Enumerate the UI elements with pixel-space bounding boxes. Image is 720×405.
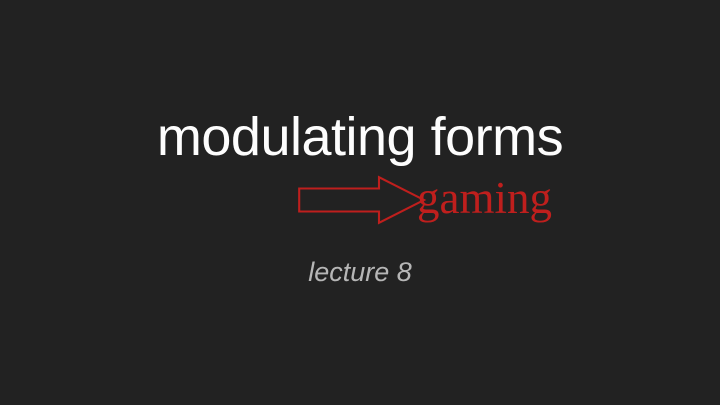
page-subtitle: lecture 8	[0, 255, 720, 289]
annotation-target-word: gaming	[417, 170, 552, 226]
annotation-group: gaming	[296, 170, 596, 230]
slide-canvas: modulating forms gaming lecture 8	[0, 0, 720, 405]
right-arrow-outline-icon	[296, 173, 428, 227]
page-title: modulating forms	[0, 106, 720, 168]
